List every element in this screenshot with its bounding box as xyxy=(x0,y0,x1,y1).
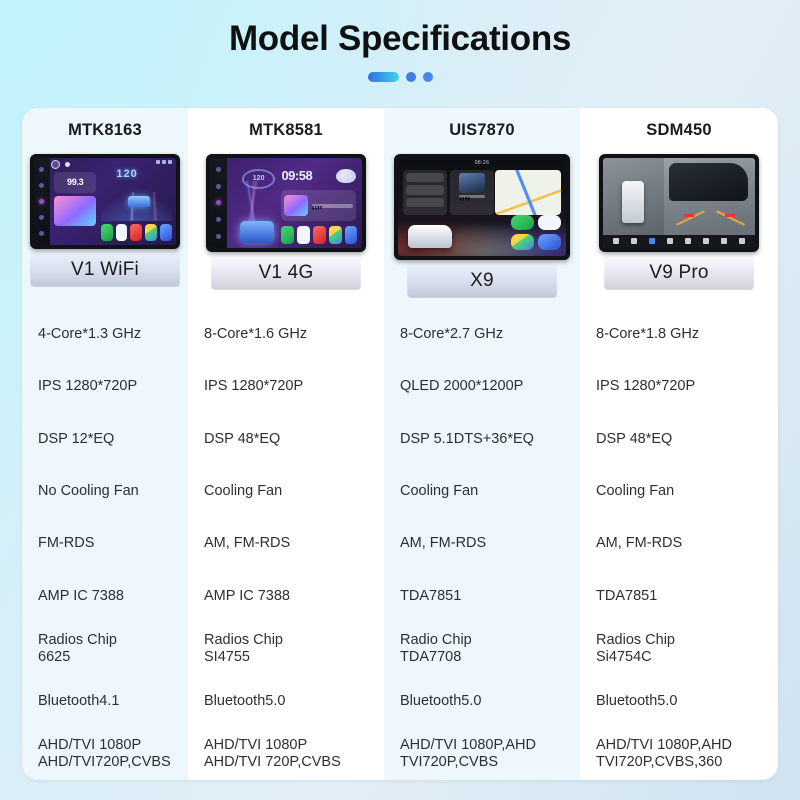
media-player-widget xyxy=(450,170,494,215)
wifi-icon xyxy=(162,160,166,164)
device-image-v1-wifi: 99.3 120 xyxy=(22,152,188,304)
spec-radio-chip: Radios Chip Si4754C xyxy=(580,623,778,675)
rail-key-icon xyxy=(39,215,44,220)
radio-frequency-label: 99.3 xyxy=(67,177,83,187)
spec-list: 4-Core*1.3 GHz IPS 1280*720P DSP 12*EQ N… xyxy=(22,304,188,780)
status-bar: 08:26 xyxy=(398,159,566,168)
car-graphic xyxy=(408,225,452,249)
spec-camera-input: AHD/TVI 1080P AHD/TVI 720P,CVBS xyxy=(188,728,384,780)
speedometer-ring: 120 xyxy=(242,169,275,189)
map-widget xyxy=(495,170,561,215)
assistant-app-icon xyxy=(538,234,561,250)
album-art-widget xyxy=(54,196,97,226)
album-art-widget xyxy=(459,173,485,193)
spec-cpu: 8-Core*2.7 GHz xyxy=(384,308,580,360)
camera-rear-icon xyxy=(685,238,691,244)
status-bar-clock: 08:26 xyxy=(475,160,490,166)
spec-list: 8-Core*1.6 GHz IPS 1280*720P DSP 48*EQ C… xyxy=(188,304,384,780)
model-name-label: V1 WiFi xyxy=(71,259,139,281)
play-pause-icon xyxy=(51,160,60,169)
page-title: Model Specifications xyxy=(0,16,800,62)
column-header-chipset: SDM450 xyxy=(580,108,778,152)
spec-display: IPS 1280*720P xyxy=(188,360,384,412)
rail-key-icon xyxy=(39,231,44,236)
rail-key-icon xyxy=(216,217,221,222)
speedometer-label: 120 xyxy=(116,168,137,180)
spec-cooling: No Cooling Fan xyxy=(22,465,188,517)
spec-column-sdm450: SDM450 xyxy=(580,108,778,780)
recorder-list-item xyxy=(406,198,444,207)
progress-bar xyxy=(312,204,353,208)
carplay-app-icon xyxy=(281,226,294,244)
spec-radio-chip: Radios Chip 6625 xyxy=(22,623,188,675)
model-name-label: V1 4G xyxy=(259,262,314,284)
spec-radio-band: FM-RDS xyxy=(22,518,188,570)
spec-amplifier: AMP IC 7388 xyxy=(22,570,188,622)
spec-cpu: 4-Core*1.3 GHz xyxy=(22,308,188,360)
camera-left-icon xyxy=(631,238,637,244)
signal-icon xyxy=(156,160,160,164)
spec-cpu: 8-Core*1.6 GHz xyxy=(188,308,384,360)
settings-app-icon xyxy=(345,226,358,244)
screen-side-key-rail xyxy=(210,158,227,248)
app-shortcut-row xyxy=(281,225,357,246)
spec-radio-chip: Radios Chip SI4755 xyxy=(188,623,384,675)
spec-amplifier: TDA7851 xyxy=(580,570,778,622)
camera-top-icon xyxy=(703,238,709,244)
head-unit-bezel: 08:26 xyxy=(394,154,570,260)
head-unit-bezel: 99.3 120 xyxy=(30,154,180,249)
carousel-indicator-dot-2[interactable] xyxy=(406,72,416,82)
device-reflection: V9 Pro xyxy=(580,250,778,296)
device-image-v1-4g: 120 09:58 xyxy=(188,152,384,304)
head-unit-screen: 08:26 xyxy=(398,158,566,256)
spec-bluetooth: Bluetooth4.1 xyxy=(22,675,188,727)
column-header-chipset: UIS7870 xyxy=(384,108,580,152)
carousel-indicator-active-pill[interactable] xyxy=(368,72,399,82)
spec-camera-input: AHD/TVI 1080P AHD/TVI720P,CVBS xyxy=(22,728,188,780)
app-shortcut-grid xyxy=(511,215,561,250)
page-header: Model Specifications xyxy=(0,0,800,82)
rail-key-icon xyxy=(216,167,221,172)
progress-bar xyxy=(459,195,484,198)
column-header-chipset: MTK8581 xyxy=(188,108,384,152)
maps-app-icon xyxy=(329,226,342,244)
head-unit-screen xyxy=(603,158,755,248)
next-track-icon xyxy=(65,162,70,167)
spec-column-uis7870: UIS7870 08:26 xyxy=(384,108,580,780)
music-app-icon xyxy=(130,224,142,241)
spec-list: 8-Core*2.7 GHz QLED 2000*1200P DSP 5.1DT… xyxy=(384,304,580,780)
column-header-chipset: MTK8163 xyxy=(22,108,188,152)
rail-key-icon-active xyxy=(216,200,221,205)
car-graphic xyxy=(128,196,151,206)
spec-cooling: Cooling Fan xyxy=(580,465,778,517)
device-reflection: V1 WiFi xyxy=(22,247,188,293)
rail-key-icon xyxy=(216,234,221,239)
auto-app-icon xyxy=(538,215,561,231)
car-graphic xyxy=(240,221,273,243)
camera-right-icon xyxy=(667,238,673,244)
spec-cooling: Cooling Fan xyxy=(384,465,580,517)
carlink-list-item xyxy=(406,185,444,194)
app-shortcut-row xyxy=(101,222,172,242)
model-name-label: V9 Pro xyxy=(649,262,708,284)
spec-list: 8-Core*1.8 GHz IPS 1280*720P DSP 48*EQ C… xyxy=(580,304,778,780)
carousel-indicator[interactable] xyxy=(0,71,800,82)
spec-amplifier: TDA7851 xyxy=(384,570,580,622)
maps-app-icon xyxy=(145,224,157,241)
head-unit-bezel: 120 09:58 xyxy=(206,154,366,252)
album-art-widget xyxy=(284,195,307,216)
head-unit-screen: 120 09:58 xyxy=(210,158,362,248)
distance-marker-right xyxy=(725,214,735,217)
head-unit-screen: 99.3 120 xyxy=(34,158,176,245)
bluetooth-list-item xyxy=(406,173,444,182)
spec-bluetooth: Bluetooth5.0 xyxy=(384,675,580,727)
rail-key-icon-active xyxy=(39,199,44,204)
spec-cooling: Cooling Fan xyxy=(188,465,384,517)
head-unit-bezel xyxy=(599,154,759,252)
music-app-icon xyxy=(313,226,326,244)
radio-widget: 99.3 xyxy=(54,172,97,193)
spec-camera-input: AHD/TVI 1080P,AHD TVI720P,CVBS,360 xyxy=(580,728,778,780)
rail-key-icon xyxy=(39,167,44,172)
rail-key-icon xyxy=(216,184,221,189)
spec-cpu: 8-Core*1.8 GHz xyxy=(580,308,778,360)
camera-front-icon xyxy=(613,238,619,244)
spec-radio-band: AM, FM-RDS xyxy=(188,518,384,570)
device-reflection: V1 4G xyxy=(188,250,384,296)
carousel-indicator-dot-3[interactable] xyxy=(423,72,433,82)
settings-app-icon xyxy=(160,224,172,241)
spec-display: QLED 2000*1200P xyxy=(384,360,580,412)
spec-camera-input: AHD/TVI 1080P,AHD TVI720P,CVBS xyxy=(384,728,580,780)
weather-icon xyxy=(336,169,356,183)
carplay-app-icon xyxy=(101,224,113,241)
carplay-app-icon xyxy=(511,215,534,231)
camera-settings-icon xyxy=(739,238,745,244)
distance-marker-left xyxy=(684,214,694,217)
notification-list-widget xyxy=(403,170,447,215)
maps-app-icon xyxy=(511,234,534,250)
auto-app-icon xyxy=(116,224,128,241)
rail-key-icon xyxy=(39,183,44,188)
device-reflection: X9 xyxy=(384,258,580,304)
device-image-v9-pro: V9 Pro xyxy=(580,152,778,304)
model-specifications-page: Model Specifications MTK8163 xyxy=(0,0,800,800)
spec-bluetooth: Bluetooth5.0 xyxy=(188,675,384,727)
media-player-widget xyxy=(281,190,355,221)
spec-dsp: DSP 12*EQ xyxy=(22,413,188,465)
status-bar-icons xyxy=(156,160,172,164)
battery-icon xyxy=(168,160,172,164)
screen-side-key-rail xyxy=(34,158,50,245)
spec-column-mtk8163: MTK8163 xyxy=(22,108,188,780)
spec-dsp: DSP 48*EQ xyxy=(188,413,384,465)
clock-label: 09:58 xyxy=(281,168,312,183)
camera-record-icon xyxy=(721,238,727,244)
auto-app-icon xyxy=(297,226,310,244)
spec-radio-band: AM, FM-RDS xyxy=(580,518,778,570)
spec-dsp: DSP 48*EQ xyxy=(580,413,778,465)
device-image-x9: 08:26 xyxy=(384,152,580,304)
spec-column-mtk8581: MTK8581 120 09:58 xyxy=(188,108,384,780)
spec-dsp: DSP 5.1DTS+36*EQ xyxy=(384,413,580,465)
spec-display: IPS 1280*720P xyxy=(580,360,778,412)
spec-display: IPS 1280*720P xyxy=(22,360,188,412)
camera-view-toolbar xyxy=(603,235,755,249)
model-name-label: X9 xyxy=(470,270,494,292)
camera-360-icon-active xyxy=(649,238,655,244)
spec-radio-chip: Radio Chip TDA7708 xyxy=(384,623,580,675)
spec-radio-band: AM, FM-RDS xyxy=(384,518,580,570)
spec-comparison-table: MTK8163 xyxy=(22,108,778,780)
spec-amplifier: AMP IC 7388 xyxy=(188,570,384,622)
spec-bluetooth: Bluetooth5.0 xyxy=(580,675,778,727)
